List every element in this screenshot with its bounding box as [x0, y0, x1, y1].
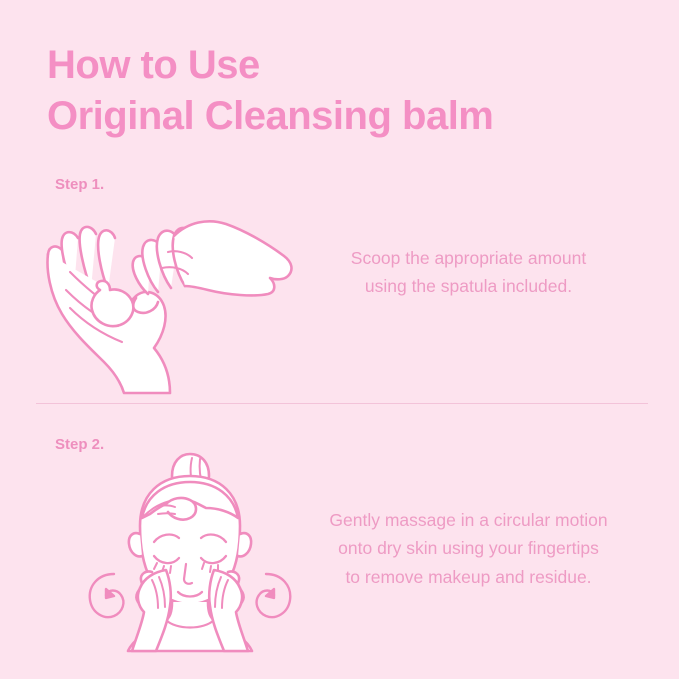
step-2-text-line-3: to remove makeup and residue.: [296, 563, 641, 591]
step-2-description: Gently massage in a circular motion onto…: [296, 506, 641, 591]
step-2-section: Step 2.: [0, 436, 679, 651]
woman-massaging-face-with-fingertips-icon: [80, 446, 295, 651]
step-2-text-line-1: Gently massage in a circular motion: [296, 506, 641, 534]
step-1-label: Step 1.: [55, 176, 104, 193]
step-1-text-line-2: using the spatula included.: [296, 272, 641, 300]
step-1-description: Scoop the appropriate amount using the s…: [296, 244, 641, 301]
instruction-card: How to Use Original Cleansing balm Step …: [0, 0, 679, 679]
page-title: How to Use Original Cleansing balm: [47, 40, 647, 142]
hands-scooping-balm-with-spatula-icon: [40, 198, 305, 393]
title-line-1: How to Use: [47, 40, 647, 91]
section-divider: [36, 403, 648, 404]
title-line-2: Original Cleansing balm: [47, 91, 647, 142]
step-2-text-line-2: onto dry skin using your fingertips: [296, 534, 641, 562]
step-1-section: Step 1.: [0, 176, 679, 391]
step-1-text-line-1: Scoop the appropriate amount: [296, 244, 641, 272]
